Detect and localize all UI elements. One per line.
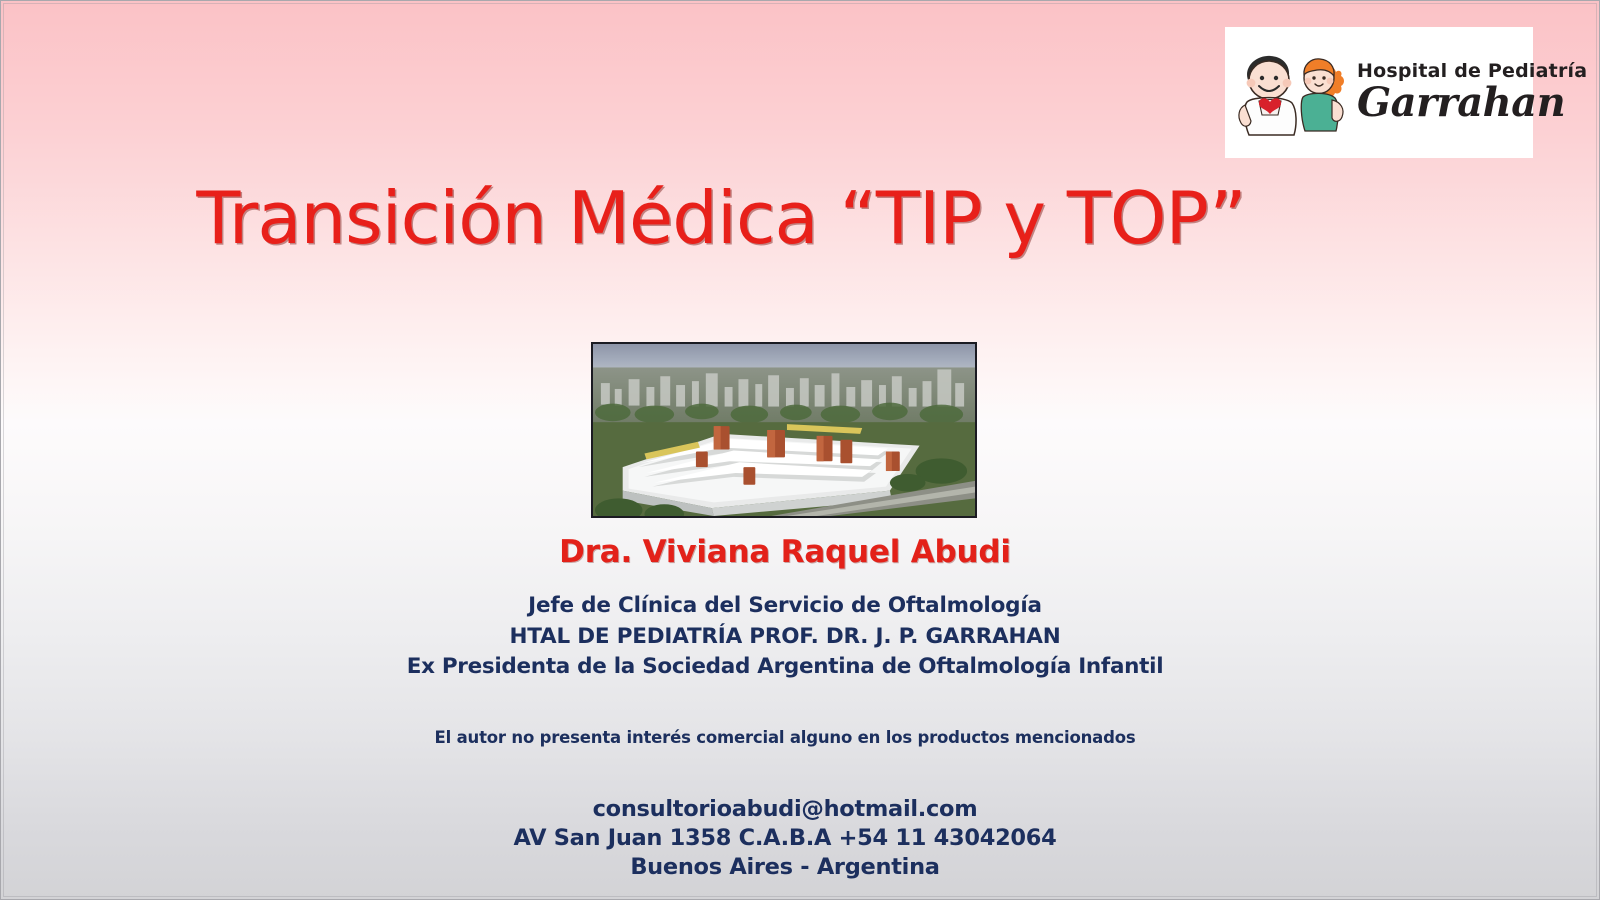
author-affiliations: Jefe de Clínica del Servicio de Oftalmol… xyxy=(1,591,1569,682)
contact-email[interactable]: consultorioabudi@hotmail.com xyxy=(1,794,1569,824)
affiliation-line-3: Ex Presidenta de la Sociedad Argentina d… xyxy=(1,652,1569,682)
two-children-mascot-icon xyxy=(1235,45,1351,141)
disclosure-statement: El autor no presenta interés comercial a… xyxy=(1,728,1569,747)
slide-title: Transición Médica “TIP y TOP” xyxy=(1,176,1441,260)
author-name: Dra. Viviana Raquel Abudi xyxy=(1,534,1569,570)
affiliation-line-1: Jefe de Clínica del Servicio de Oftalmol… xyxy=(1,591,1569,621)
hospital-logo: Hospital de Pediatría Garrahan xyxy=(1225,27,1533,158)
hospital-aerial-photo xyxy=(591,342,977,518)
logo-wordmark: Garrahan xyxy=(1357,83,1587,123)
contact-block: consultorioabudi@hotmail.com AV San Juan… xyxy=(1,794,1569,882)
affiliation-line-2: HTAL DE PEDIATRÍA PROF. DR. J. P. GARRAH… xyxy=(1,621,1569,652)
contact-city: Buenos Aires - Argentina xyxy=(1,853,1569,882)
contact-address: AV San Juan 1358 C.A.B.A +54 11 43042064 xyxy=(1,824,1569,853)
presentation-slide: Hospital de Pediatría Garrahan Transició… xyxy=(0,0,1600,900)
